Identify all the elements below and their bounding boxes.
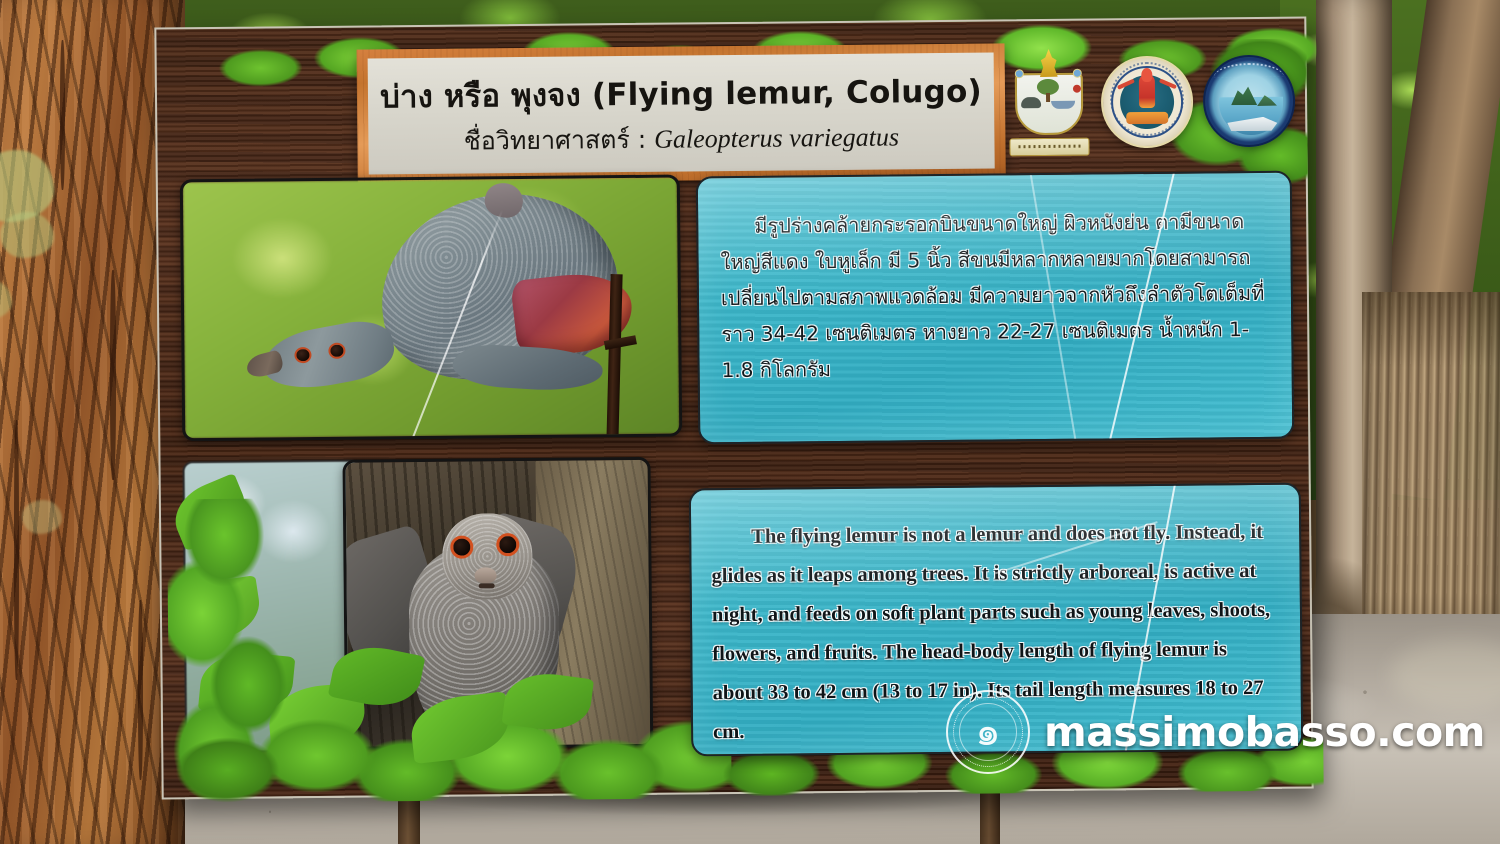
seal-deity-head — [1141, 68, 1152, 82]
marine-park-seal-emblem-icon — [1203, 55, 1296, 148]
marine-seal-island — [1231, 85, 1257, 105]
crest-tree-trunk-motif — [1046, 93, 1050, 102]
photograph-scene: บ่าง หรือ พุงจง (Flying lemur, Colugo) ช… — [0, 0, 1500, 844]
colugo-on-trunk-photo — [342, 457, 653, 750]
title-plaque: บ่าง หรือ พุงจง (Flying lemur, Colugo) ช… — [357, 43, 1006, 183]
sign-post-right — [980, 790, 1000, 844]
english-description-panel: The flying lemur is not a lemur and does… — [689, 483, 1304, 757]
crest-sun-motif — [1073, 85, 1081, 93]
leaf-graphic-panel — [182, 460, 363, 754]
provincial-crest-emblem-icon — [1007, 51, 1092, 156]
scientific-name-label: ชื่อวิทยาศาสตร์ : — [464, 124, 647, 155]
crest-orb-right — [1073, 69, 1082, 78]
marine-seal-text-arc — [1214, 63, 1284, 78]
crest-elephant-motif — [1021, 97, 1041, 108]
colugo-on-branch-photo — [180, 175, 682, 442]
bark-crack — [138, 600, 143, 780]
scientific-name-line: ชื่อวิทยาศาสตร์ : Galeopterus variegatus — [464, 117, 900, 161]
crest-banner — [1009, 138, 1089, 157]
interpretive-sign-board[interactable]: บ่าง หรือ พุงจง (Flying lemur, Colugo) ช… — [154, 16, 1313, 799]
lichen-patch — [0, 212, 54, 258]
colugo-mouth — [479, 583, 495, 588]
bark-crack — [110, 270, 116, 480]
colugo-muzzle — [475, 567, 497, 583]
english-description-text: The flying lemur is not a lemur and does… — [711, 513, 1281, 752]
scientific-name-value: Galeopterus variegatus — [654, 122, 899, 153]
colugo-eye — [328, 343, 345, 359]
colugo-eye — [294, 347, 311, 363]
deity-seal-emblem-icon — [1101, 56, 1194, 149]
colugo-eye — [450, 536, 473, 559]
sign-title-thai-english: บ่าง หรือ พุงจง (Flying lemur, Colugo) — [380, 65, 982, 121]
title-plaque-face: บ่าง หรือ พุงจง (Flying lemur, Colugo) ช… — [368, 52, 995, 174]
emblem-row — [1007, 41, 1288, 164]
bark-crack — [14, 420, 19, 680]
lichen-patch — [22, 500, 62, 534]
lichen-patch — [0, 280, 12, 320]
thai-description-panel: มีรูปร่างคล้ายกระรอกบินขนาดใหญ่ ผิวหนังย… — [696, 171, 1295, 445]
thai-description-text: มีรูปร่างคล้ายกระรอกบินขนาดใหญ่ ผิวหนังย… — [720, 203, 1270, 388]
crest-orb-left — [1015, 69, 1024, 78]
colugo-eye — [496, 533, 519, 556]
sign-post-left — [398, 790, 420, 844]
bark-crack — [60, 40, 65, 190]
seal-lotus-base — [1126, 112, 1168, 124]
